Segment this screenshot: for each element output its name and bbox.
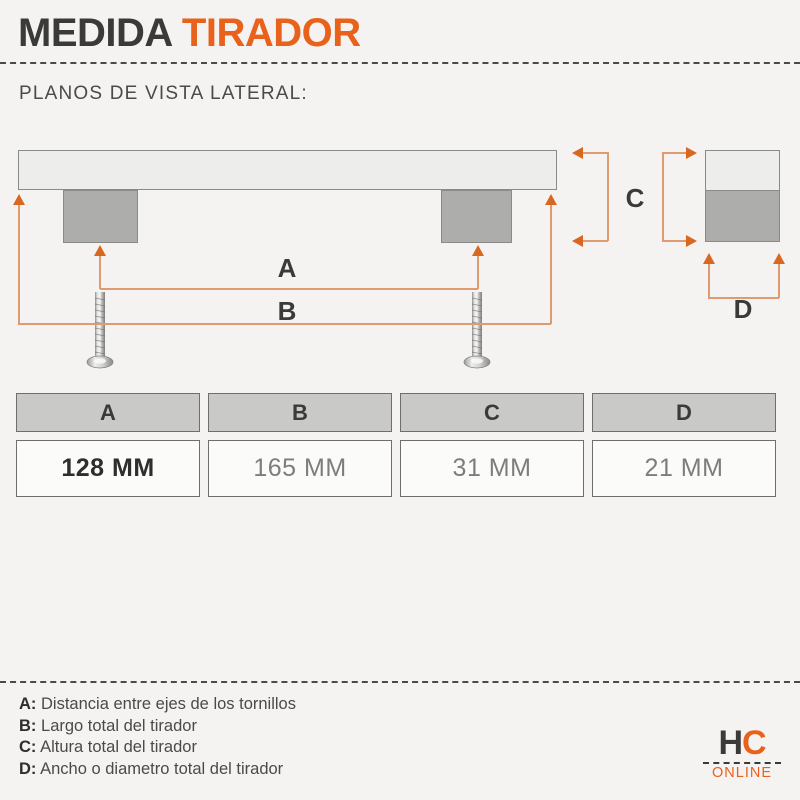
table-header-d: D [592,393,776,432]
table-header-b: B [208,393,392,432]
dimension-d-label: D [726,294,760,325]
dimension-d-leader-right [778,262,780,298]
dimension-b-label: B [270,296,304,327]
dimension-c-tick-bottom-right [662,240,687,242]
legend-text-d: Ancho o diametro total del tirador [40,760,283,778]
dimension-d-arrow-left [703,253,715,264]
dimension-c-arrow-top-left [572,147,583,159]
dimension-c-arrow-top-right [686,147,697,159]
dimension-a-line [100,288,478,290]
dimension-a-leader-left [99,254,101,289]
side-view-block [705,150,780,242]
title-word-medida: MEDIDA [18,11,171,55]
dimension-b-arrow-right [545,194,557,205]
footer-divider [0,681,800,683]
header-divider [0,62,800,64]
dimension-c-leader-left [607,152,609,241]
dimension-a-arrow-left [94,245,106,256]
logo-letter-c: C [742,724,766,762]
dimension-b-leader-left [18,203,20,324]
table-column-a: A 128 MM [16,393,200,497]
table-column-d: D 21 MM [592,393,776,497]
dimension-a-label: A [270,253,304,284]
side-view-bottom-face [706,191,779,241]
screw-right [462,292,492,372]
table-column-b: B 165 MM [208,393,392,497]
section-subtitle: PLANOS DE VISTA LATERAL: [19,83,308,105]
page-title: MEDIDA TIRADOR [18,10,361,56]
legend-item-b: B: Largo total del tirador [19,716,296,738]
dimension-c-tick-top-left [583,152,608,154]
spec-sheet: MEDIDA TIRADOR PLANOS DE VISTA LATERAL: [0,0,800,800]
table-value-b: 165 MM [208,440,392,497]
legend-key-a: A: [19,695,36,713]
mounting-post-left [63,190,138,243]
logo-letters: HC [703,726,781,760]
dimension-d-leader-left [708,262,710,298]
legend-key-b: B: [19,717,36,735]
dimension-c-label: C [618,183,652,214]
table-value-c: 31 MM [400,440,584,497]
title-word-tirador: TIRADOR [182,11,361,55]
dimension-c-arrow-bottom-right [686,235,697,247]
legend-text-a: Distancia entre ejes de los tornillos [41,695,296,713]
dimension-c-tick-top-right [662,152,687,154]
dimension-c-leader-right [662,152,664,241]
legend-text-b: Largo total del tirador [41,717,197,735]
brand-logo: HC ONLINE [703,726,781,782]
dimension-a-leader-right [477,254,479,289]
table-header-a: A [16,393,200,432]
logo-letter-h: H [718,724,742,762]
legend-item-d: D: Ancho o diametro total del tirador [19,759,296,781]
legend-key-c: C: [19,738,36,756]
legend-item-c: C: Altura total del tirador [19,737,296,759]
dimension-a-arrow-right [472,245,484,256]
measurement-table: A 128 MM B 165 MM C 31 MM D 21 MM [16,393,776,497]
table-value-d: 21 MM [592,440,776,497]
table-value-a: 128 MM [16,440,200,497]
legend: A: Distancia entre ejes de los tornillos… [19,694,296,780]
logo-subtext: ONLINE [703,765,781,782]
logo-divider [703,762,781,764]
dimension-b-arrow-left [13,194,25,205]
dimension-b-leader-right [550,203,552,324]
mounting-post-right [441,190,512,243]
table-header-c: C [400,393,584,432]
screw-left [85,292,115,372]
dimension-c-arrow-bottom-left [572,235,583,247]
legend-text-c: Altura total del tirador [40,738,197,756]
dimension-c-tick-bottom-left [583,240,608,242]
legend-item-a: A: Distancia entre ejes de los tornillos [19,694,296,716]
table-column-c: C 31 MM [400,393,584,497]
legend-key-d: D: [19,760,36,778]
dimension-d-arrow-right [773,253,785,264]
handle-bar [18,150,557,190]
side-view-top-face [706,151,779,191]
